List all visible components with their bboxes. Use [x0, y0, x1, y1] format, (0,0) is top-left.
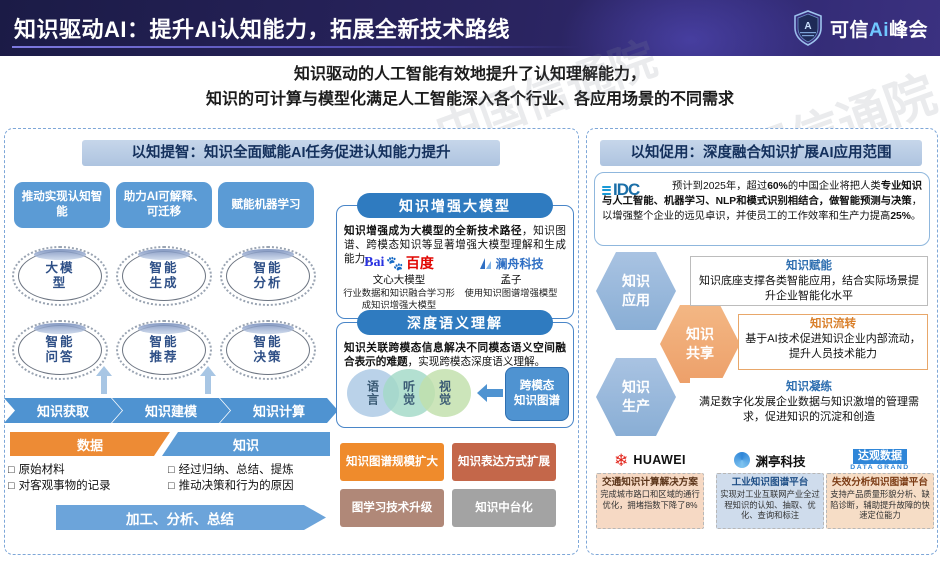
brand-name: 文心大模型 [343, 274, 455, 287]
chevron-step-3: 知识计算 [220, 398, 338, 423]
node-label-line2: 推荐 [149, 350, 178, 365]
chevron-step-1: 知识获取 [4, 398, 122, 423]
brand-card-body: 交通知识计算解决方案 完成城市路口和区域的通行优化，拥堵指数下降了8% [596, 473, 704, 529]
process-chevron-bar: 知识获取 知识建模 知识计算 [4, 398, 330, 423]
cross-modal-kg-box: 跨模态 知识图谱 [505, 367, 569, 421]
brand-card-body: 工业知识图谱平台 实现对工业互联网产业全过程知识的认知、抽取、优化、查询和标注 [716, 473, 824, 529]
data-knowledge-banner: 数据 知识 [10, 432, 330, 456]
title-underline [12, 46, 580, 48]
brand-baidu: Bai 🐾 百度 文心大模型 行业数据和知识融合学习形成知识增强大模型 [343, 254, 455, 311]
pill-button-3[interactable]: 赋能机器学习 [218, 182, 314, 228]
brand-card-huawei: ❄ HUAWEI 交通知识计算解决方案 完成城市路口和区域的通行优化，拥堵指数下… [596, 447, 704, 529]
node-label-line2: 型 [53, 276, 68, 291]
tile-knowledge-midend[interactable]: 知识中台化 [452, 489, 556, 527]
left-panel-title: 以知提智：知识全面赋能AI任务促进认知能力提升 [82, 140, 500, 166]
subtitle: 知识驱动的人工智能有效地提升了认知理解能力， 知识的可计算与模型化满足人工智能深… [0, 62, 940, 112]
node-label-line1: 智能 [45, 335, 74, 350]
brand-card-yuanting: 渊亭科技 工业知识图谱平台 实现对工业互联网产业全过程知识的认知、抽取、优化、查… [716, 447, 824, 529]
idc-text-mid1: 的中国企业将把人类 [788, 181, 881, 192]
page-title: 知识驱动AI：提升AI认知能力，拓展全新技术路线 [14, 12, 510, 44]
infobox-knowledge-empower: 知识赋能 知识底座支撑各类智能应用，结合实际场景提升企业智能化水平 [690, 256, 928, 306]
node-label-line2: 生成 [149, 276, 178, 291]
hex-line2: 共享 [686, 344, 714, 363]
infobox-body: 满足数字化发展企业数据与知识激增的管理需求，促进知识的沉淀和创造 [694, 395, 924, 425]
subtitle-line-2: 知识的可计算与模型化满足人工智能深入各个行业、各应用场景的不同需求 [0, 87, 940, 112]
shield-icon: A [793, 10, 823, 46]
paw-icon: 🐾 [386, 255, 403, 272]
huawei-flower-icon: ❄ [614, 452, 628, 469]
infobox-body: 知识底座支撑各类智能应用，结合实际场景提升企业智能化水平 [695, 274, 923, 304]
node-label-line1: 智能 [253, 335, 282, 350]
list-item: 经过归纳、总结、提炼 [168, 462, 338, 478]
box-heading: 知识增强大模型 [357, 193, 553, 218]
sail-icon [478, 256, 493, 271]
node-label-line1: 智能 [149, 261, 178, 276]
spiral-icon [734, 452, 750, 468]
yuanting-logo-text: 渊亭科技 [755, 451, 805, 470]
cross-modal-line1: 跨模态 [520, 379, 555, 394]
node-label-line2: 决策 [253, 350, 282, 365]
venn-circle-vision: 视觉 [419, 369, 471, 417]
knowledge-banner-label: 知识 [162, 432, 330, 456]
hex-line2: 生产 [622, 397, 650, 416]
idc-logo-text: IDC [613, 180, 639, 200]
pill-button-2[interactable]: 助力AI可解释、可迁移 [116, 182, 212, 228]
node-intelligent-decision: 智能 决策 [220, 320, 316, 380]
hex-line1: 知识 [622, 378, 650, 397]
list-item: 对客观事物的记录 [8, 478, 168, 494]
brand-card-title: 工业知识图谱平台 [720, 477, 820, 489]
idc-text-end: 。 [911, 211, 921, 222]
logo-text-post: 峰会 [889, 20, 928, 41]
infobox-body: 基于AI技术促进知识企业内部流动，提升人员技术能力 [743, 332, 923, 362]
brand-card-title: 交通知识计算解决方案 [600, 477, 700, 489]
idc-quote-box: 预计到2025年，超过60%的中国企业将把人类专业知识与人工智能、机器学习、NL… [594, 172, 930, 246]
cross-modal-line2: 知识图谱 [514, 394, 560, 409]
baidu-logo-bai: Bai [364, 255, 384, 271]
brand-desc: 使用知识图谱增强模型 [455, 288, 567, 300]
node-intelligent-generation: 智能 生成 [116, 246, 212, 306]
list-item: 推动决策和行为的原因 [168, 478, 338, 494]
list-item: 原始材料 [8, 462, 168, 478]
langboat-logo-icon: 澜舟科技 [455, 254, 567, 272]
brand-card-title: 失效分析知识图谱平台 [830, 477, 930, 489]
idc-bold-60: 60% [767, 181, 788, 192]
langboat-logo-text: 澜舟科技 [495, 255, 543, 272]
brand-name: 孟子 [455, 274, 567, 287]
up-arrow-icon [200, 366, 216, 394]
logo-text-ai: Ai [869, 20, 889, 41]
hex-line1: 知识 [622, 272, 650, 291]
brand-card-desc: 支持产品质量形貌分析、缺陷诊断，辅助提升故障的快速定位能力 [830, 489, 930, 521]
process-arrow-label: 加工、分析、总结 [56, 505, 326, 530]
data-banner-label: 数据 [10, 432, 170, 456]
logo-text-pre: 可信 [830, 20, 869, 41]
yuanting-logo-icon: 渊亭科技 [716, 447, 824, 473]
node-label: 智能 生成 [116, 246, 212, 306]
event-logo: A 可信Ai峰会 [793, 6, 928, 50]
venn-diagram: 语言 听觉 视觉 [347, 369, 475, 417]
baidu-logo-icon: Bai 🐾 百度 [343, 254, 455, 272]
brand-card-desc: 实现对工业互联网产业全过程知识的认知、抽取、优化、查询和标注 [720, 489, 820, 521]
tile-graph-learning[interactable]: 图学习技术升级 [340, 489, 444, 527]
knowledge-enhanced-model-box: 知识增强大模型 知识增强成为大模型的全新技术路径，知识图谱、跨模态知识等显著增强… [336, 205, 574, 319]
svg-text:A: A [804, 21, 811, 32]
baidu-logo-cn: 百度 [406, 253, 434, 273]
node-label: 智能 问答 [12, 320, 108, 380]
infobox-knowledge-flow: 知识流转 基于AI技术促进知识企业内部流动，提升人员技术能力 [738, 314, 928, 370]
hex-line2: 应用 [622, 291, 650, 310]
brand-desc: 行业数据和知识融合学习形成知识增强大模型 [343, 288, 455, 311]
brand-card-datagrand: 达观数据 DATA GRAND 失效分析知识图谱平台 支持产品质量形貌分析、缺陷… [826, 447, 934, 529]
idc-bold-25: 25% [890, 211, 911, 222]
pill-button-1[interactable]: 推动实现认知智能 [14, 182, 110, 228]
tile-kg-scale[interactable]: 知识图谱规模扩大 [340, 443, 444, 481]
brand-langboat: 澜舟科技 孟子 使用知识图谱增强模型 [455, 254, 567, 311]
idc-wave-icon [602, 186, 611, 195]
knowledge-bullet-list: 经过归纳、总结、提炼 推动决策和行为的原因 [168, 462, 338, 494]
brand-card-body: 失效分析知识图谱平台 支持产品质量形貌分析、缺陷诊断，辅助提升故障的快速定位能力 [826, 473, 934, 529]
idc-logo-icon: IDC [602, 180, 662, 200]
infobox-title: 知识流转 [743, 317, 923, 332]
logo-text: 可信Ai峰会 [830, 15, 928, 42]
huawei-logo-icon: ❄ HUAWEI [596, 447, 704, 473]
node-label-line1: 智能 [253, 261, 282, 276]
right-panel-title: 以知促用：深度融合知识扩展AI应用范围 [600, 140, 922, 166]
datagrand-logo-text: 达观数据 [853, 449, 907, 464]
node-label: 智能 分析 [220, 246, 316, 306]
node-intelligent-qa: 智能 问答 [12, 320, 108, 380]
infobox-title: 知识赋能 [695, 259, 923, 274]
left-arrow-icon [477, 383, 503, 403]
node-label-line1: 智能 [149, 335, 178, 350]
node-label-line1: 大模 [45, 261, 74, 276]
infobox-knowledge-refinement: 知识凝练 满足数字化发展企业数据与知识激增的管理需求，促进知识的沉淀和创造 [690, 378, 928, 430]
idc-text-pre: 预计到2025年，超过 [672, 181, 767, 192]
subtitle-line-1: 知识驱动的人工智能有效地提升了认知理解能力， [0, 62, 940, 87]
box-text-bold: 知识增强成为大模型的全新技术路径 [344, 225, 522, 237]
node-label: 大模 型 [12, 246, 108, 306]
box-text: 知识关联跨模态信息解决不同模态语义空间融合表示的难题，实现跨模态深度语义理解。 [344, 341, 566, 369]
page-header: 知识驱动AI：提升AI认知能力，拓展全新技术路线 A 可信Ai峰会 [0, 0, 940, 56]
datagrand-logo-icon: 达观数据 DATA GRAND [826, 447, 934, 473]
datagrand-logo-sub: DATA GRAND [850, 464, 909, 471]
hex-line1: 知识 [686, 325, 714, 344]
node-label: 智能 推荐 [116, 320, 212, 380]
tile-kg-expression[interactable]: 知识表达方式扩展 [452, 443, 556, 481]
brand-row: Bai 🐾 百度 文心大模型 行业数据和知识融合学习形成知识增强大模型 澜舟科技… [343, 254, 567, 311]
infobox-title: 知识凝练 [694, 380, 924, 395]
data-bullet-list: 原始材料 对客观事物的记录 [8, 462, 168, 494]
huawei-logo-text: HUAWEI [633, 453, 685, 467]
up-arrow-icon [96, 366, 112, 394]
brand-card-desc: 完成城市路口和区域的通行优化，拥堵指数下降了8% [600, 489, 700, 510]
node-label-line2: 问答 [45, 350, 74, 365]
deep-semantic-box: 深度语义理解 知识关联跨模态信息解决不同模态语义空间融合表示的难题，实现跨模态深… [336, 322, 574, 428]
chevron-step-2: 知识建模 [112, 398, 230, 423]
box-heading: 深度语义理解 [357, 310, 553, 335]
node-intelligent-analysis: 智能 分析 [220, 246, 316, 306]
node-label: 智能 决策 [220, 320, 316, 380]
node-intelligent-recommendation: 智能 推荐 [116, 320, 212, 380]
node-label-line2: 分析 [253, 276, 282, 291]
node-large-model: 大模 型 [12, 246, 108, 306]
